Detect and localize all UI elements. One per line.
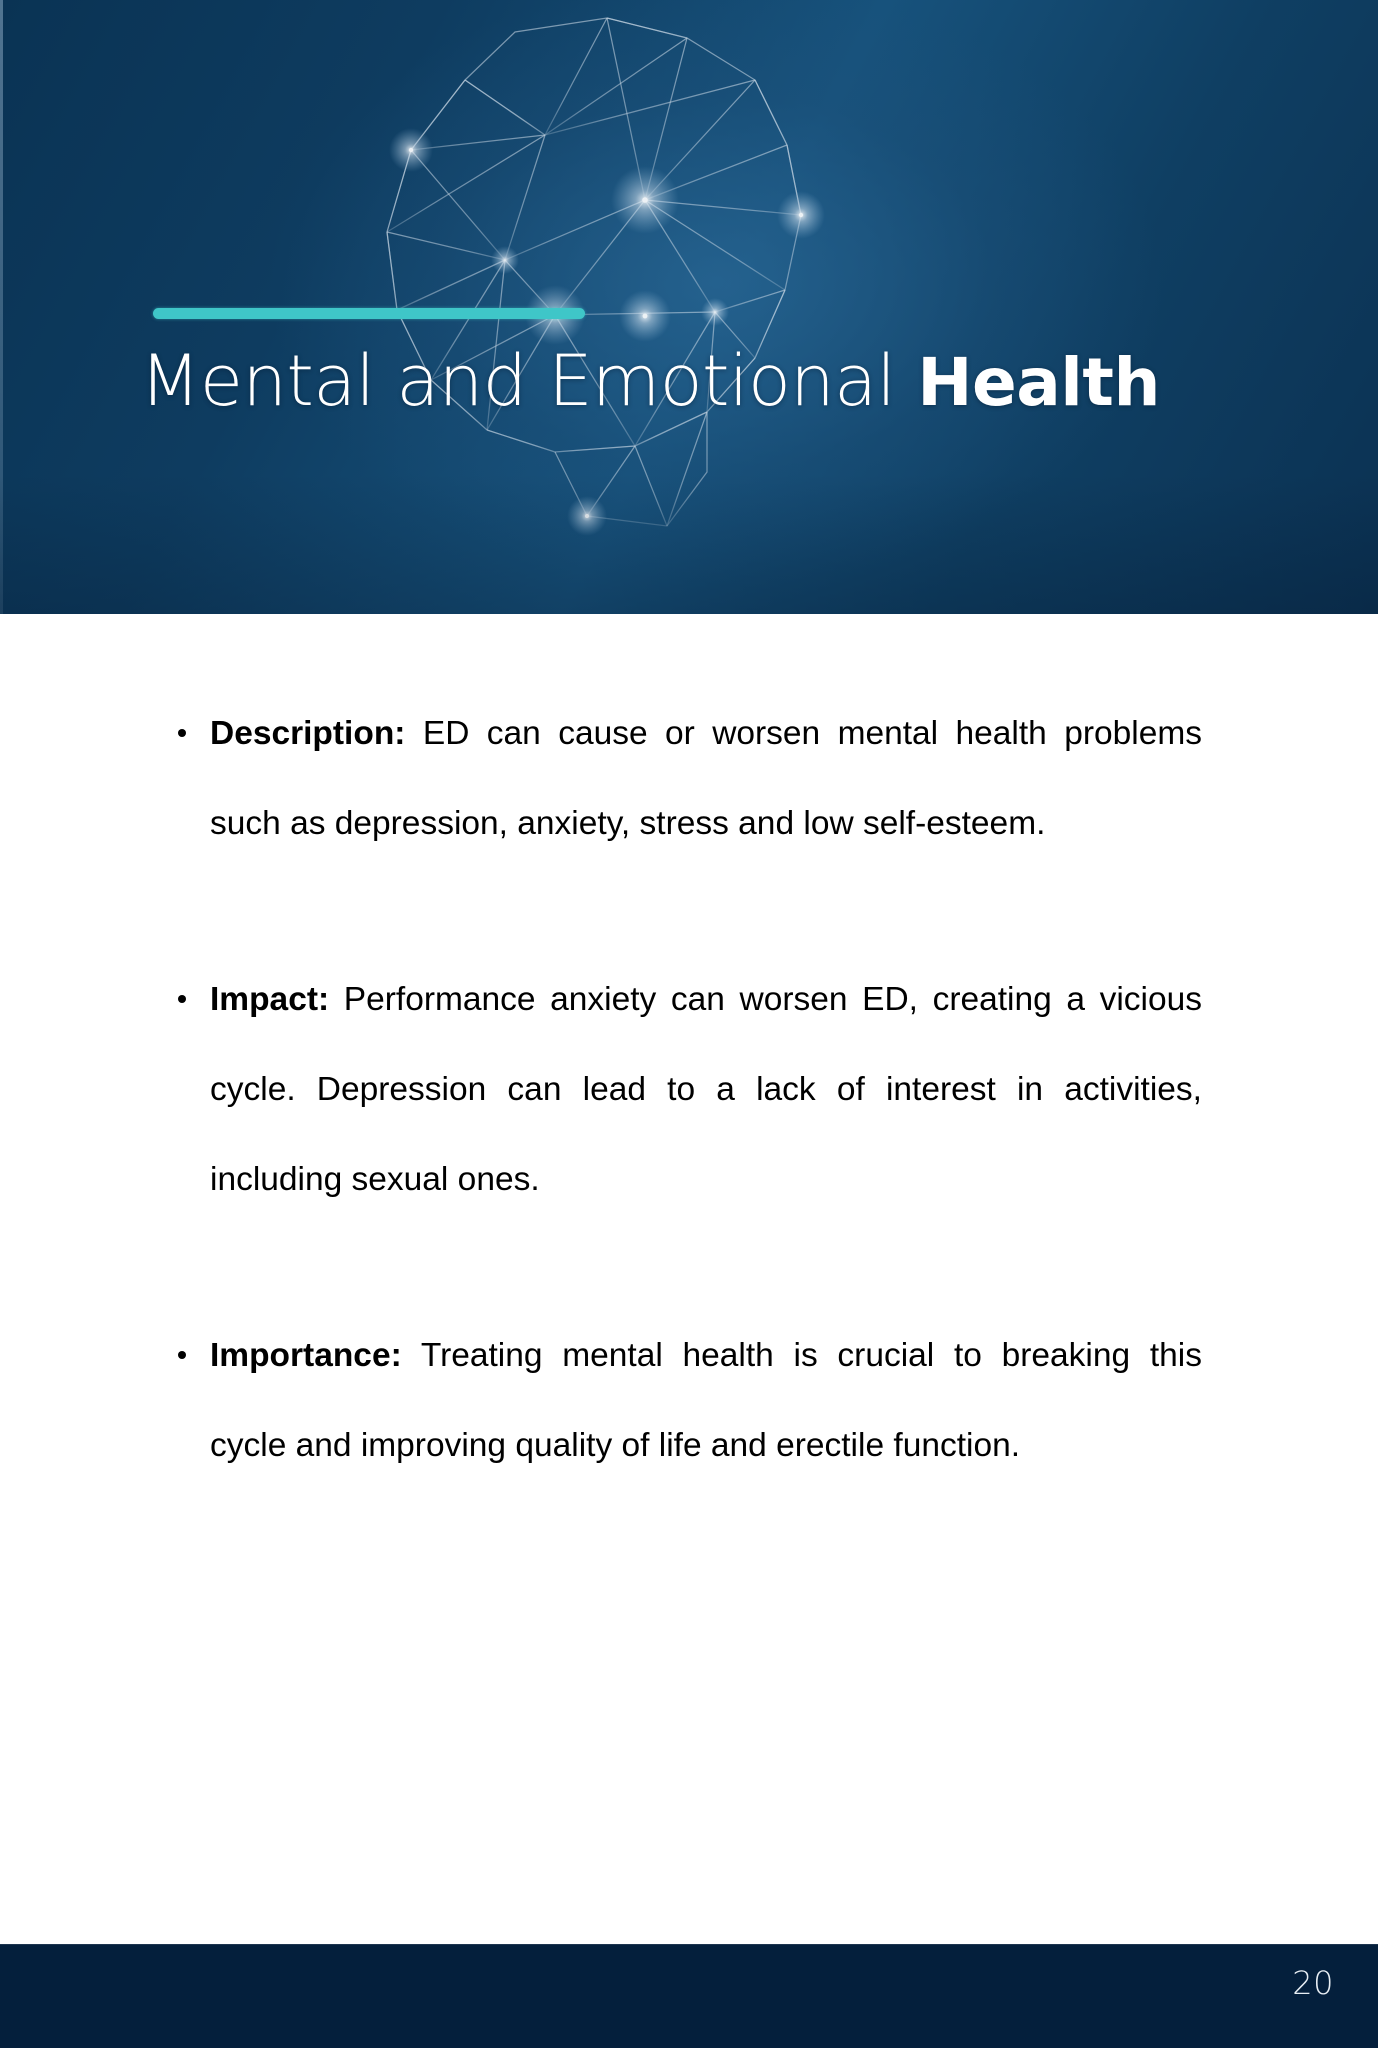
slide-footer-bar: 20 bbox=[0, 1944, 1378, 2048]
slide-body: Description: ED can cause or worsen ment… bbox=[0, 614, 1378, 1944]
bullet-dot-icon bbox=[178, 1351, 186, 1359]
title-accent-rule bbox=[153, 308, 585, 319]
bullet-list: Description: ED can cause or worsen ment… bbox=[178, 689, 1202, 1491]
header-left-edge-stripe bbox=[0, 0, 3, 614]
page-title: Mental and Emotional Health bbox=[140, 336, 1320, 428]
bullet-lead-label: Impact: bbox=[210, 981, 329, 1018]
list-item: Importance: Treating mental health is cr… bbox=[178, 1311, 1202, 1491]
bullet-lead-label: Description: bbox=[210, 715, 405, 752]
page-title-light-part: Mental and Emotional bbox=[140, 340, 917, 422]
bullet-lead-label: Importance: bbox=[210, 1337, 402, 1374]
page-number: 20 bbox=[1292, 1964, 1334, 2002]
list-item: Description: ED can cause or worsen ment… bbox=[178, 689, 1202, 869]
list-item: Impact: Performance anxiety can worsen E… bbox=[178, 955, 1202, 1225]
bullet-dot-icon bbox=[178, 995, 186, 1003]
bullet-dot-icon bbox=[178, 729, 186, 737]
slide-header-banner: Mental and Emotional Health bbox=[0, 0, 1378, 614]
brain-network-wireframe-icon bbox=[215, 0, 955, 600]
bullet-body-text: Performance anxiety can worsen ED, creat… bbox=[210, 981, 1202, 1198]
page-title-bold-part: Health bbox=[917, 344, 1160, 421]
